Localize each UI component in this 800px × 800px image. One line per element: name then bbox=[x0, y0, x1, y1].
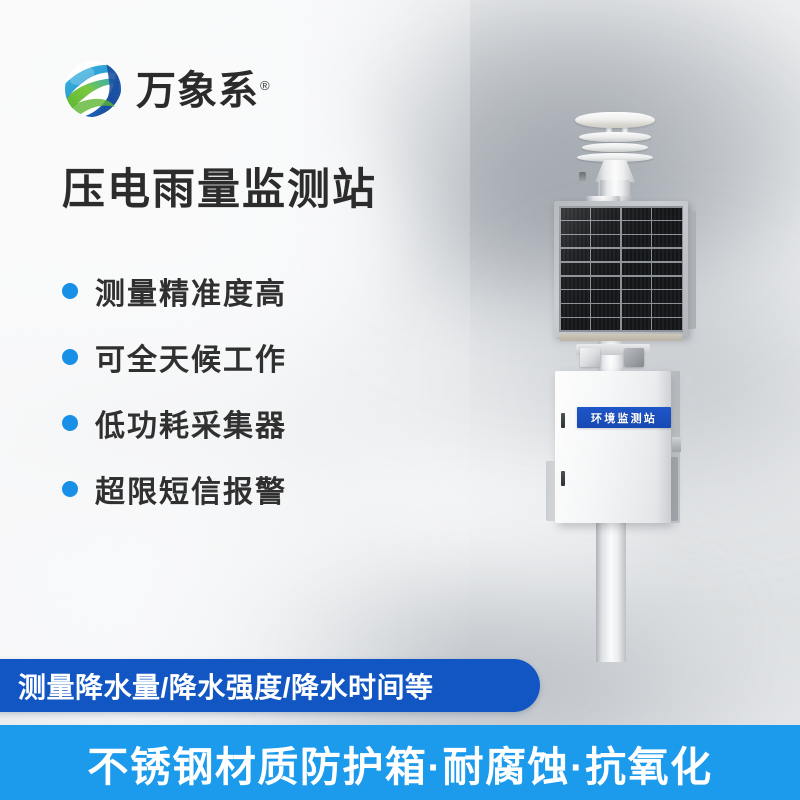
feature-list: 测量精准度高 可全天候工作 低功耗采集器 超限短信报警 bbox=[62, 258, 287, 522]
feature-item-2: 可全天候工作 bbox=[62, 324, 287, 390]
feature-label-2: 可全天候工作 bbox=[95, 335, 287, 379]
blue-dot-icon bbox=[62, 415, 78, 431]
cloud-right-mid-dark bbox=[480, 250, 800, 510]
blue-dot-icon bbox=[62, 349, 78, 365]
cloud-bottom-center-gray bbox=[150, 520, 710, 750]
footer-bar-text: 不锈钢材质防护箱·耐腐蚀·抗氧化 bbox=[87, 733, 712, 793]
brand-name: 万象系® bbox=[136, 71, 271, 111]
measurement-banner: 测量降水量/降水强度/降水时间等 bbox=[0, 659, 540, 712]
brand-name-text: 万象系 bbox=[136, 69, 259, 113]
cloud-top-right-dark bbox=[340, 0, 800, 290]
feature-label-4: 超限短信报警 bbox=[95, 467, 287, 511]
product-poster: 环境监测站 bbox=[0, 0, 800, 800]
brand-logo: 万象系® bbox=[62, 58, 271, 120]
blue-dot-icon bbox=[62, 481, 78, 497]
trademark-icon: ® bbox=[260, 78, 271, 93]
footer-bar: 不锈钢材质防护箱·耐腐蚀·抗氧化 bbox=[0, 725, 800, 800]
globe-swirl-logo-icon bbox=[62, 58, 124, 120]
feature-item-3: 低功耗采集器 bbox=[62, 390, 287, 456]
page-title: 压电雨量监测站 bbox=[62, 166, 377, 215]
measurement-banner-text: 测量降水量/降水强度/降水时间等 bbox=[18, 666, 434, 706]
blue-dot-icon bbox=[62, 283, 78, 299]
feature-label-3: 低功耗采集器 bbox=[95, 401, 287, 445]
feature-label-1: 测量精准度高 bbox=[95, 269, 287, 313]
feature-item-4: 超限短信报警 bbox=[62, 456, 287, 522]
cloud-upper-right-dark bbox=[350, 90, 770, 340]
cloud-center-white bbox=[240, 430, 660, 650]
feature-item-1: 测量精准度高 bbox=[62, 258, 287, 324]
